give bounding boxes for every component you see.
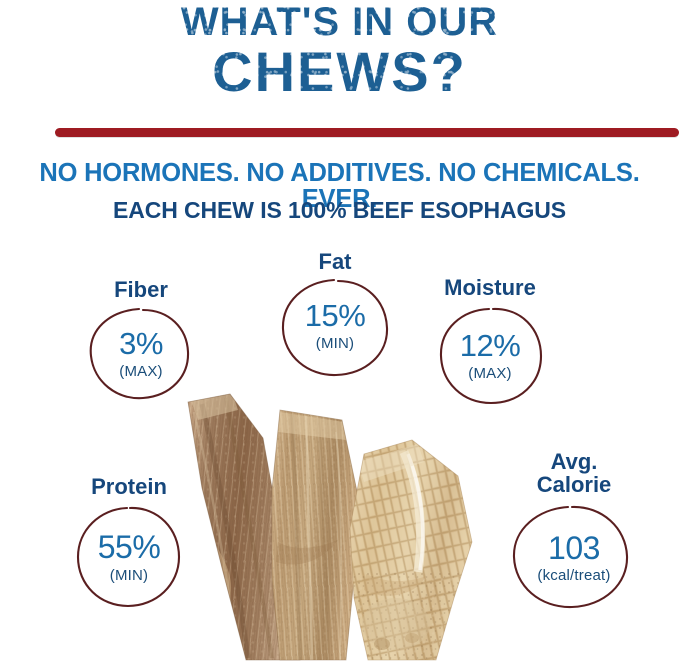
nutrient-badge-protein: Protein 55% (MIN) (56, 475, 202, 609)
nutrient-badge-moisture: Moisture 12% (MAX) (414, 276, 566, 406)
nutrient-badge-avg-calorie: Avg. Calorie 103 (kcal/treat) (492, 450, 656, 610)
badge-value-moisture: 12% (414, 330, 566, 361)
page-title-line-2: CHEWS? (0, 44, 679, 100)
nutrient-badge-fat: Fat 15% (MIN) (266, 250, 404, 376)
title-line-1-text: WHAT'S IN OUR (181, 2, 498, 42)
badge-unit-moisture: (MAX) (414, 366, 566, 381)
badge-value-fiber: 3% (78, 328, 204, 359)
red-divider-rule (55, 128, 679, 137)
badge-value-protein: 55% (56, 531, 202, 563)
subhead-beef-esophagus: EACH CHEW IS 100% BEEF ESOPHAGUS (0, 199, 679, 222)
nutrient-badge-fiber: Fiber 3% (MAX) (78, 278, 204, 400)
badge-unit-fat: (MIN) (266, 336, 404, 351)
badge-label-fat: Fat (266, 250, 404, 273)
badge-value-fat: 15% (266, 300, 404, 331)
chew-strip-right (338, 422, 488, 665)
badge-label-protein: Protein (56, 475, 202, 498)
badge-label-avg-calorie: Avg. Calorie (492, 450, 656, 496)
badge-unit-avg-calorie: (kcal/treat) (492, 568, 656, 583)
badge-unit-protein: (MIN) (56, 568, 202, 583)
page-title-line-1: WHAT'S IN OUR (0, 2, 679, 42)
product-photo-beef-chews (168, 392, 508, 665)
badge-value-avg-calorie: 103 (492, 532, 656, 564)
badge-label-moisture: Moisture (414, 276, 566, 299)
infographic-page: WHAT'S IN OUR CHEWS? NO HORMONES. NO ADD… (0, 0, 679, 665)
badge-unit-fiber: (MAX) (78, 364, 204, 379)
badge-label-fiber: Fiber (78, 278, 204, 301)
title-line-2-text: CHEWS? (212, 44, 467, 100)
